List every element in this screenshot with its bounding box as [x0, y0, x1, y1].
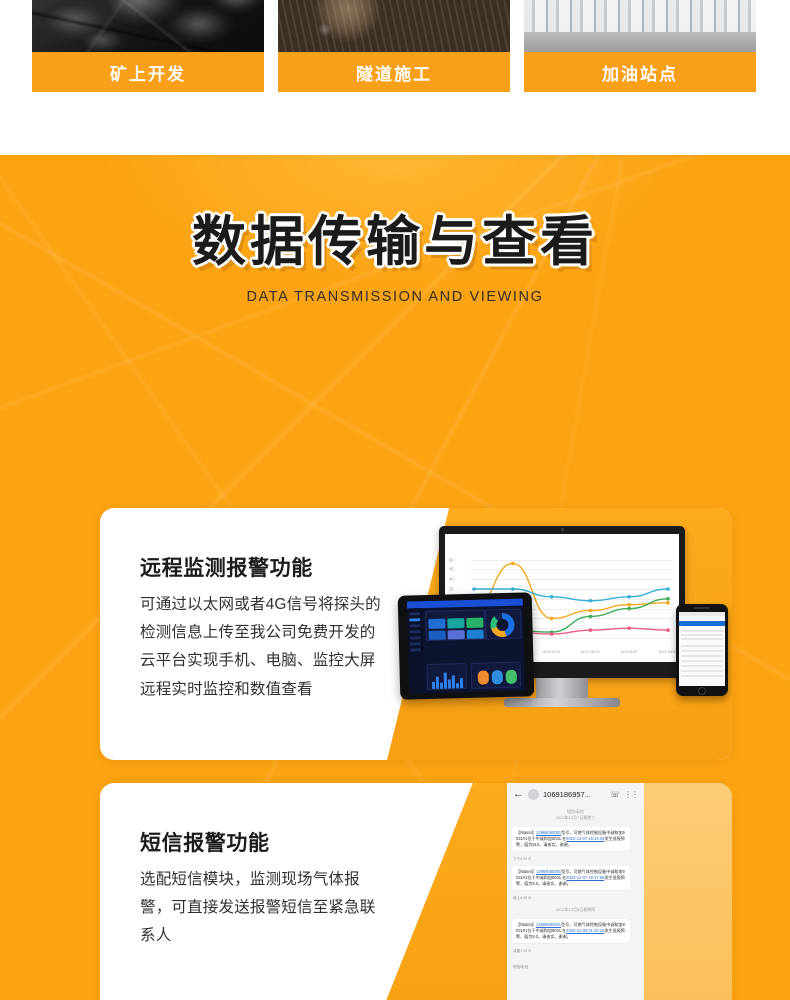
chart-x-tick-label: 9/13 6:02	[621, 649, 638, 654]
sms-time-stamp: 下午4:34 ✉	[513, 857, 531, 862]
tablet-nav-item	[409, 612, 420, 615]
applications-strip: 矿上开发 隧道施工 加油站点	[0, 0, 790, 155]
sms-timestamp: 2022-12-07 18:47:56	[566, 875, 604, 880]
phone-home-button	[698, 687, 706, 695]
sms-date-label: 2022年12月8日星期四	[507, 907, 644, 913]
sms-device-id: 13969050081	[536, 830, 561, 835]
tablet-tile	[466, 618, 483, 628]
section-heading: 数据传输与查看 DATA TRANSMISSION AND VIEWING	[0, 215, 790, 305]
chart-data-point	[627, 603, 631, 607]
phone-list-row	[681, 638, 723, 640]
application-card-mining[interactable]: 矿上开发	[32, 0, 264, 92]
sms-time-stamp: 凌晨1:48 ✉	[513, 949, 531, 954]
tablet-bar-panel	[426, 663, 467, 690]
tablet-bar	[436, 677, 439, 689]
chart-y-tick-label: 50	[449, 557, 454, 562]
phone-list-row	[681, 634, 723, 636]
tablet-tile	[447, 618, 464, 628]
feature-visual-sms: ← 1069186957... ☏ ⋮⋮ 短信/彩信 2022年12月7日星期三…	[372, 783, 732, 1000]
tablet-bar	[448, 679, 451, 688]
smartphone-device	[676, 604, 728, 696]
sms-date-label: 2022年12月7日星期三	[507, 815, 644, 821]
sms-time-stamp: 晚上6:48 ✉	[513, 896, 531, 901]
phone-screen	[679, 612, 725, 686]
chart-data-point	[550, 617, 554, 621]
sms-message-bubble: 【Nlaten】13969050081型号，可燃气体控制设备中诚和加9031#1…	[512, 827, 630, 851]
tablet-nav-item	[410, 642, 421, 645]
chart-data-point	[589, 615, 593, 619]
sms-timestamp: 2022-12-07 16:34:03	[566, 836, 604, 841]
phone-list-row	[681, 630, 723, 632]
application-card-caption: 隧道施工	[278, 52, 510, 92]
donut-gauge	[490, 613, 515, 638]
tablet-screen	[407, 598, 525, 693]
chart-data-point	[511, 562, 515, 566]
chart-x-tick-label: 8/13 6:02	[543, 649, 560, 654]
back-arrow-icon[interactable]: ←	[513, 788, 524, 800]
application-card-tunnel[interactable]: 隧道施工	[278, 0, 510, 92]
tablet-tile	[428, 619, 445, 629]
feature-visual-devices: 1015202530354045507/13 6:027/13 18:028/1…	[387, 508, 732, 760]
monitor-stand	[504, 698, 620, 707]
chart-data-point	[511, 587, 515, 591]
coal-mining-photo	[32, 0, 264, 52]
sms-prefix: 【Nlaten】	[516, 869, 536, 874]
chart-data-point	[550, 632, 554, 636]
tablet-tile-panel	[425, 609, 486, 641]
tablet-tile	[467, 630, 484, 639]
tablet-bar	[452, 675, 455, 688]
application-card-caption: 矿上开发	[32, 52, 264, 92]
feature-body: 选配短信模块，监测现场气体报警，可直接发送报警短信至紧急联系人	[140, 866, 390, 951]
chart-x-tick-label: 8/13 18:02	[581, 649, 600, 654]
sms-timestamp: 2022-12-08 01:48:16	[566, 928, 604, 933]
feature-text-block: 远程监测报警功能 可通过以太网或者4G信号将探头的检测信息上传至我公司免费开发的…	[100, 508, 430, 760]
feature-card-remote-monitoring[interactable]: 远程监测报警功能 可通过以太网或者4G信号将探头的检测信息上传至我公司免费开发的…	[100, 508, 732, 760]
phone-list-row	[681, 665, 723, 667]
tablet-topbar	[407, 598, 523, 608]
tablet-nav-item	[409, 624, 420, 627]
phone-list-row	[681, 660, 723, 662]
chart-y-tick-label: 40	[449, 577, 454, 582]
tablet-bar	[456, 683, 459, 688]
webcam-icon	[561, 528, 564, 531]
tablet-bar	[444, 673, 447, 689]
monitor-neck	[536, 678, 588, 700]
status-pill	[506, 670, 517, 684]
chart-data-point	[589, 609, 593, 613]
chart-data-point	[472, 587, 476, 591]
section-title-en: DATA TRANSMISSION AND VIEWING	[0, 289, 790, 305]
sms-contact-number: 1069186957...	[543, 790, 606, 799]
sms-date-divider: 2022年12月8日星期四	[507, 907, 644, 913]
chart-y-tick-label: 45	[449, 567, 454, 572]
application-card-gas-station[interactable]: 加油站点	[524, 0, 756, 92]
phone-list-row	[681, 670, 723, 672]
phone-list-row	[681, 655, 723, 657]
tablet-gauge-panel	[470, 662, 521, 689]
tablet-bar	[432, 682, 435, 689]
phone-list-row	[681, 645, 723, 647]
chart-data-point	[627, 595, 631, 599]
feature-body: 可通过以太网或者4G信号将探头的检测信息上传至我公司免费开发的云平台实现手机、电…	[140, 591, 390, 704]
sms-message-bubble: 【Nlaten】13969050081型号，可燃气体控制设备中诚和加9031#1…	[512, 866, 630, 890]
phone-appbar	[679, 621, 725, 626]
chart-data-point	[666, 597, 670, 601]
chart-x-tick-label: 9/13 18:02	[659, 649, 678, 654]
tablet-nav-item	[410, 648, 421, 651]
chart-data-point	[666, 628, 670, 632]
sms-prefix: 【Nlaten】	[516, 830, 536, 835]
chart-y-tick-label: 35	[449, 587, 454, 592]
tablet-sidebar	[407, 608, 424, 693]
phone-list-row	[681, 675, 723, 677]
status-pill	[478, 670, 489, 684]
tablet-bar	[440, 683, 443, 689]
chart-data-point	[589, 599, 593, 603]
tablet-donut-panel	[485, 609, 522, 640]
phone-statusbar	[679, 612, 725, 616]
sms-message-bubble: 【Nlaten】13969050081型号，可燃气体控制设备中诚和加9031#1…	[512, 919, 630, 943]
application-card-caption: 加油站点	[524, 52, 756, 92]
sms-input-placeholder[interactable]: 短信/彩信	[513, 965, 528, 970]
chart-data-point	[589, 628, 593, 632]
sms-prefix: 【Nlaten】	[516, 922, 536, 927]
tablet-nav-item	[410, 636, 421, 639]
chart-data-point	[627, 626, 631, 630]
sms-device-id: 13969050081	[536, 869, 561, 874]
sms-screenshot: ← 1069186957... ☏ ⋮⋮ 短信/彩信 2022年12月7日星期三…	[507, 783, 644, 1000]
tablet-tile	[429, 631, 446, 640]
sms-header: ← 1069186957... ☏ ⋮⋮	[507, 783, 644, 805]
phone-speaker	[694, 607, 710, 609]
tablet-device	[398, 592, 535, 699]
tablet-nav-item	[410, 630, 421, 633]
chart-data-point	[550, 595, 554, 599]
more-options-icon[interactable]: ⋮⋮	[624, 790, 638, 799]
phone-call-icon[interactable]: ☏	[610, 790, 620, 799]
section-title-cn: 数据传输与查看	[0, 215, 790, 269]
avatar	[528, 789, 539, 800]
sms-date-divider: 短信/彩信 2022年12月7日星期三	[507, 809, 644, 821]
data-transmission-section: 数据传输与查看 DATA TRANSMISSION AND VIEWING 远程…	[0, 155, 790, 1000]
chart-data-point	[627, 607, 631, 611]
sms-device-id: 13969050081	[536, 922, 561, 927]
chart-data-point	[666, 587, 670, 591]
tablet-tile	[448, 630, 465, 639]
feature-card-sms-alarm[interactable]: 短信报警功能 选配短信模块，监测现场气体报警，可直接发送报警短信至紧急联系人 ←…	[100, 783, 732, 1000]
chart-data-point	[666, 601, 670, 605]
tablet-nav-item	[409, 618, 420, 621]
phone-list-row	[681, 650, 723, 652]
tablet-bar	[460, 678, 463, 688]
status-pill	[492, 670, 503, 684]
tunnel-boring-photo	[278, 0, 510, 52]
gas-station-photo	[524, 0, 756, 52]
